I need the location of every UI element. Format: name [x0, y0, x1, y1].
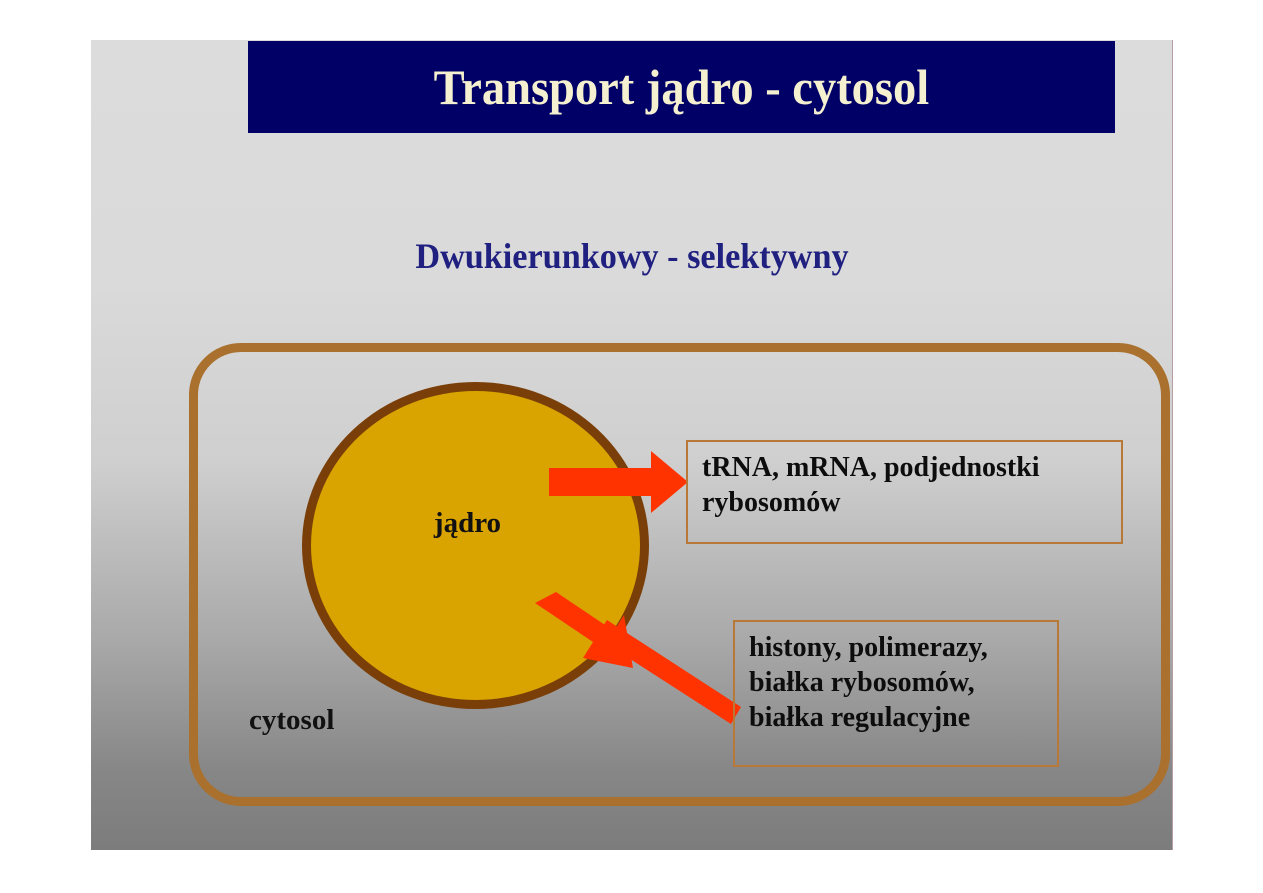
import-line-3: białka regulacyjne [749, 700, 1045, 735]
title-banner: Transport jądro - cytosol [248, 41, 1115, 133]
export-line-2: rybosomów [702, 485, 1109, 520]
page-title: Transport jądro - cytosol [434, 62, 930, 112]
slide-subtitle: Dwukierunkowy - selektywny [118, 235, 1146, 277]
slide-canvas: Transport jądro - cytosol Dwukierunkowy … [91, 40, 1173, 850]
nucleus-label: jądro [434, 507, 501, 540]
import-line-2: białka rybosomów, [749, 665, 1045, 700]
cytosol-label: cytosol [249, 704, 334, 737]
nucleus-shape: jądro [302, 382, 649, 709]
import-cargo-box: histony, polimerazy, białka rybosomów, b… [733, 620, 1059, 767]
export-cargo-box: tRNA, mRNA, podjednostki rybosomów [686, 440, 1123, 544]
import-line-1: histony, polimerazy, [749, 630, 1045, 665]
export-line-1: tRNA, mRNA, podjednostki [702, 450, 1109, 485]
